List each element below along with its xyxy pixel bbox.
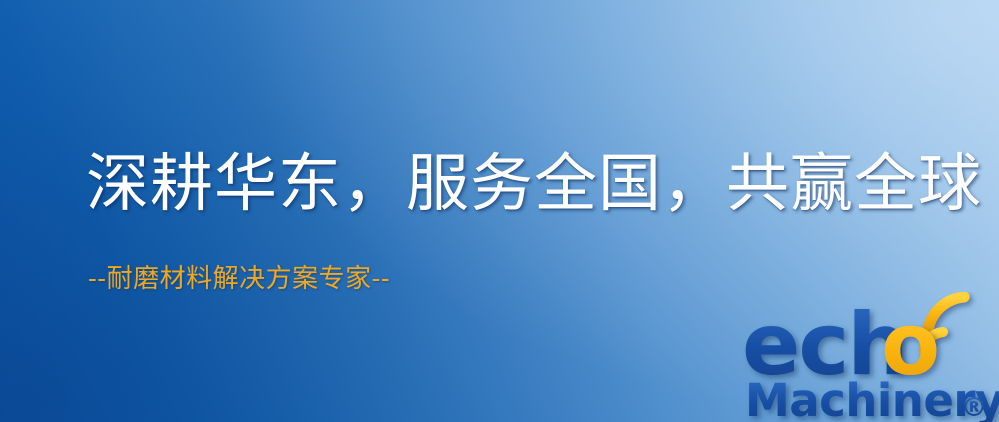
page-subtitle: --耐磨材料解决方案专家-- bbox=[88, 266, 390, 292]
hero-banner: 深耕华东，服务全国，共赢全球 --耐磨材料解决方案专家-- bbox=[0, 0, 999, 422]
brand-logo[interactable]: ech o Machinery ® bbox=[742, 292, 999, 422]
page-title: 深耕华东，服务全国，共赢全球 bbox=[86, 152, 982, 215]
logo-graphic: ech o Machinery ® bbox=[742, 292, 999, 422]
registered-trademark-icon: ® bbox=[961, 393, 987, 422]
